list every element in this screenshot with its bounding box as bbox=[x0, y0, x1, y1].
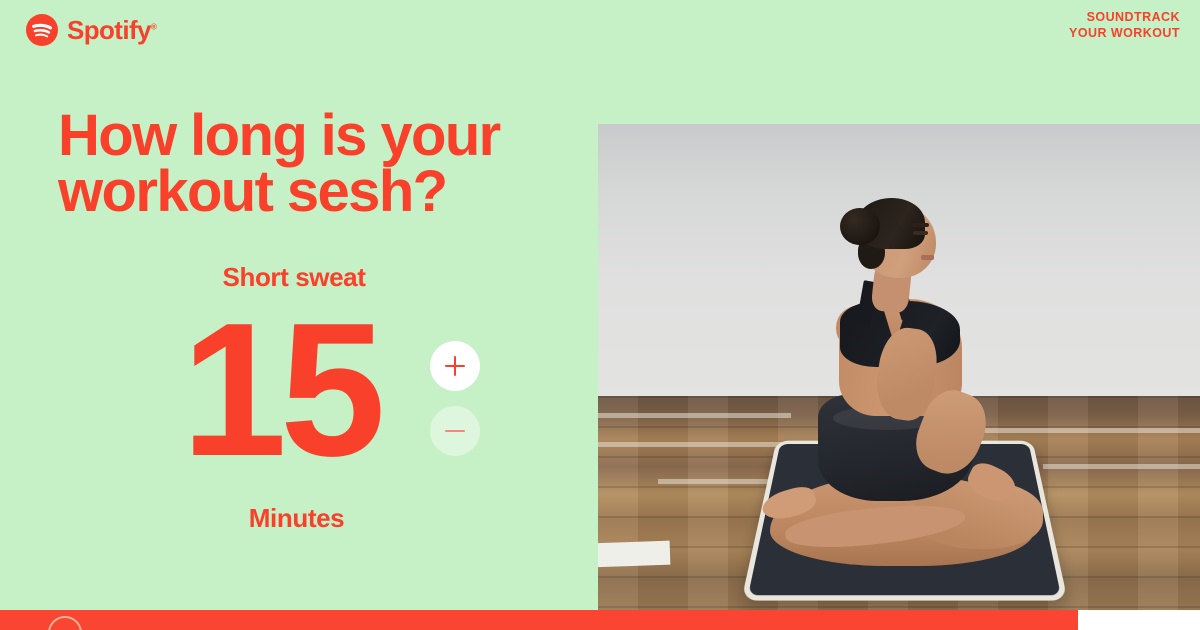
workout-photo bbox=[598, 124, 1200, 610]
page-title-line-2: workout sesh? bbox=[58, 164, 528, 220]
duration-unit-label: Minutes bbox=[0, 503, 598, 534]
closed-eye bbox=[913, 231, 927, 235]
page-title-line-1: How long is your bbox=[58, 108, 528, 164]
bottom-right-whitespace bbox=[1078, 610, 1200, 630]
question-panel: How long is your workout sesh? Short swe… bbox=[0, 0, 598, 610]
campaign-tagline-line-1: SOUNDTRACK bbox=[1069, 9, 1180, 25]
campaign-tagline: SOUNDTRACK YOUR WORKOUT bbox=[1069, 9, 1180, 41]
campaign-tagline-line-2: YOUR WORKOUT bbox=[1069, 25, 1180, 41]
duration-value: 15 bbox=[150, 295, 410, 485]
lips bbox=[921, 255, 934, 260]
decrement-duration-button[interactable] bbox=[430, 406, 480, 456]
promo-page: Spotify® SOUNDTRACK YOUR WORKOUT How lon… bbox=[0, 0, 1200, 630]
increment-duration-button[interactable] bbox=[430, 341, 480, 391]
hair-bun bbox=[840, 208, 880, 245]
minus-icon bbox=[445, 421, 465, 441]
circle-outline-icon bbox=[48, 616, 82, 630]
eyebrow bbox=[912, 223, 929, 227]
person-meditating bbox=[598, 124, 1200, 610]
page-title: How long is your workout sesh? bbox=[58, 108, 528, 219]
plus-icon bbox=[445, 356, 465, 376]
duration-stepper: 15 bbox=[0, 305, 598, 495]
bottom-accent-bar bbox=[0, 610, 1078, 630]
